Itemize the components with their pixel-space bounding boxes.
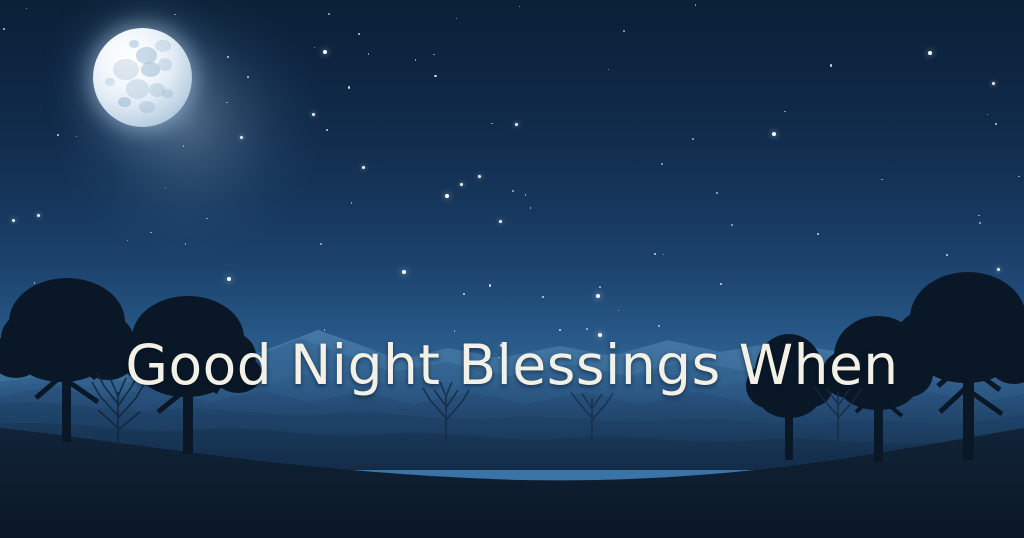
night-sky-banner: Good Night Blessings When Gratitude Feel… [0, 0, 1024, 538]
page-title: Good Night Blessings When Gratitude Feel… [0, 173, 1024, 538]
title-line-1: Good Night Blessings When [0, 327, 1024, 404]
